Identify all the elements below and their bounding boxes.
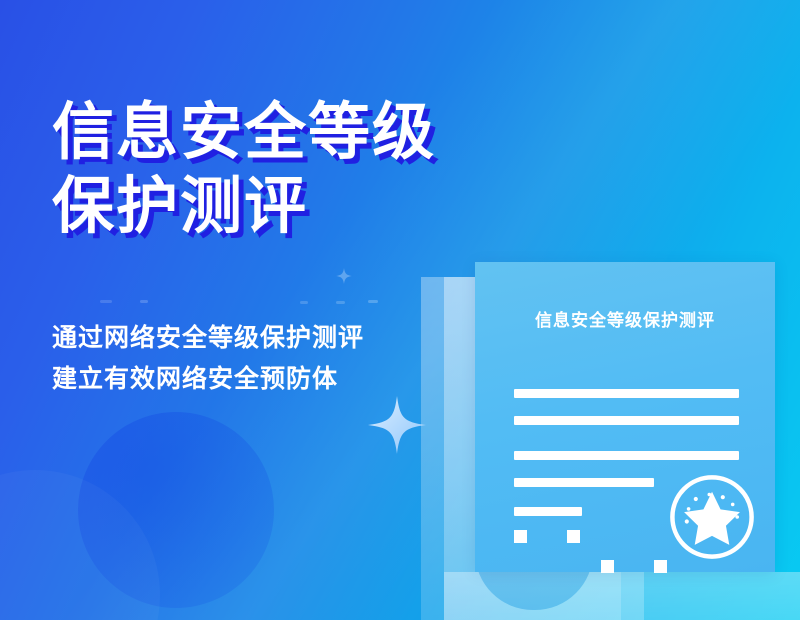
document-stack: 信息安全等级保护测评 bbox=[0, 0, 800, 620]
star-seal-icon bbox=[667, 472, 757, 562]
headline-line-1: 信息安全等级 bbox=[52, 96, 572, 170]
doc-line-1 bbox=[514, 389, 739, 398]
promo-banner: 信息安全等级 保护测评 通过网络安全等级保护测评 建立有效网络安全预防体 信息安… bbox=[0, 0, 800, 620]
doc-line-2 bbox=[514, 416, 739, 425]
subtitle-line-2: 建立有效网络安全预防体 bbox=[52, 359, 364, 400]
document-card-title: 信息安全等级保护测评 bbox=[475, 306, 775, 331]
doc-block-d bbox=[654, 560, 667, 573]
subtitle: 通过网络安全等级保护测评 建立有效网络安全预防体 bbox=[52, 318, 364, 400]
headline-line-2: 保护测评 bbox=[52, 170, 572, 244]
doc-line-5 bbox=[514, 507, 582, 516]
doc-block-b bbox=[567, 530, 580, 543]
doc-block-c bbox=[601, 560, 614, 573]
doc-line-4 bbox=[514, 478, 654, 487]
headline: 信息安全等级 保护测评 bbox=[52, 96, 572, 244]
doc-block-a bbox=[514, 530, 527, 543]
document-card-front: 信息安全等级保护测评 bbox=[475, 262, 775, 572]
subtitle-line-1: 通过网络安全等级保护测评 bbox=[52, 318, 364, 359]
doc-line-3 bbox=[514, 451, 739, 460]
